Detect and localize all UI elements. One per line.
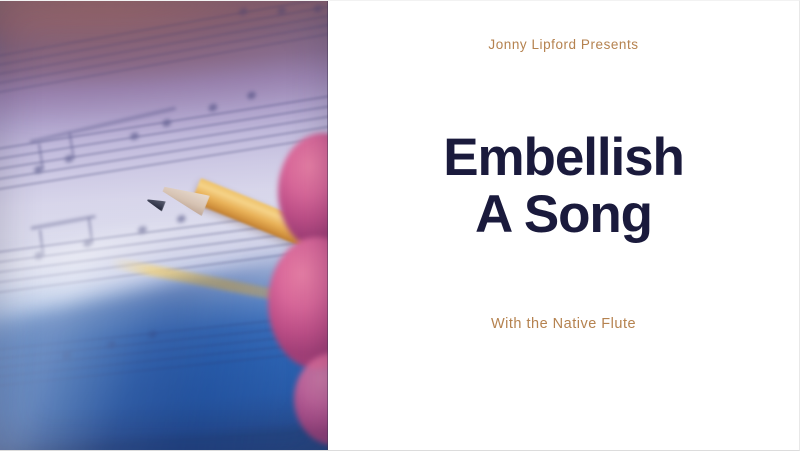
sheet-music-photo [0, 1, 328, 451]
title-line-1: Embellish [443, 130, 683, 187]
text-panel: Jonny Lipford Presents Embellish A Song … [328, 1, 799, 451]
title-slide: Jonny Lipford Presents Embellish A Song … [0, 0, 800, 451]
subtitle: With the Native Flute [491, 316, 636, 332]
page-title: Embellish A Song [443, 130, 683, 243]
title-line-2: A Song [443, 187, 683, 244]
presenter-kicker: Jonny Lipford Presents [488, 37, 638, 52]
